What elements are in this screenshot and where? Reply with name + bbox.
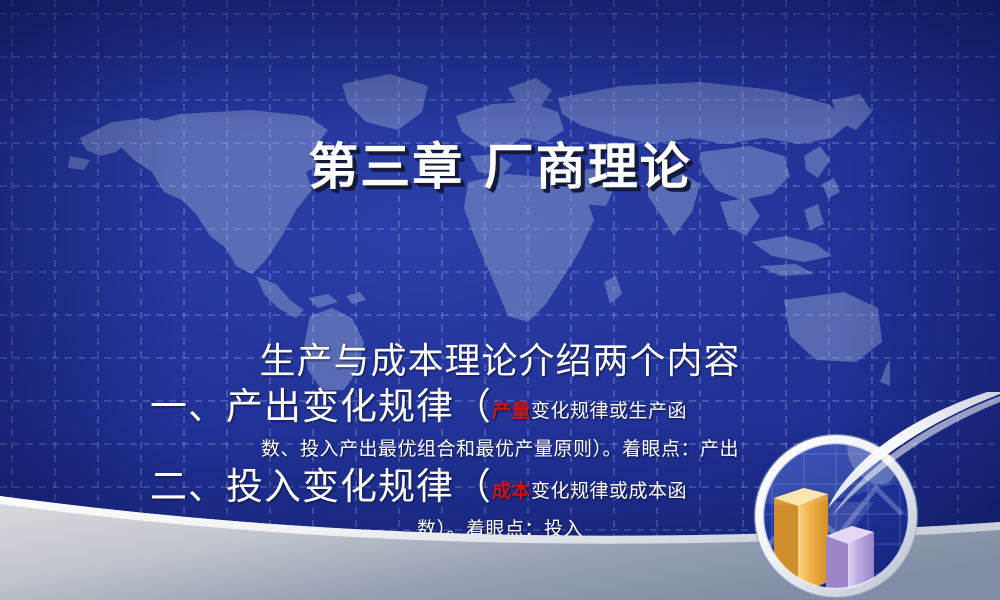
item-1-paren: （ (454, 385, 492, 428)
item-1-detail-inline: 变化规律或生产函 (531, 400, 687, 422)
list-item-1: 一、产出变化规律（产量变化规律或生产函 (0, 384, 1000, 434)
slide-title: 第三章 厂商理论 (0, 127, 1000, 199)
item-1-heading: 产出变化规律 (226, 385, 454, 428)
magnifier-lens-icon (752, 432, 920, 600)
body-lead-line: 生产与成本理论介绍两个内容 (0, 340, 1000, 384)
item-1-highlight: 产量 (492, 400, 531, 422)
presentation-slide: 第三章 厂商理论 生产与成本理论介绍两个内容 一、产出变化规律（产量变化规律或生… (0, 0, 1000, 600)
item-1-number: 一、 (150, 385, 226, 428)
